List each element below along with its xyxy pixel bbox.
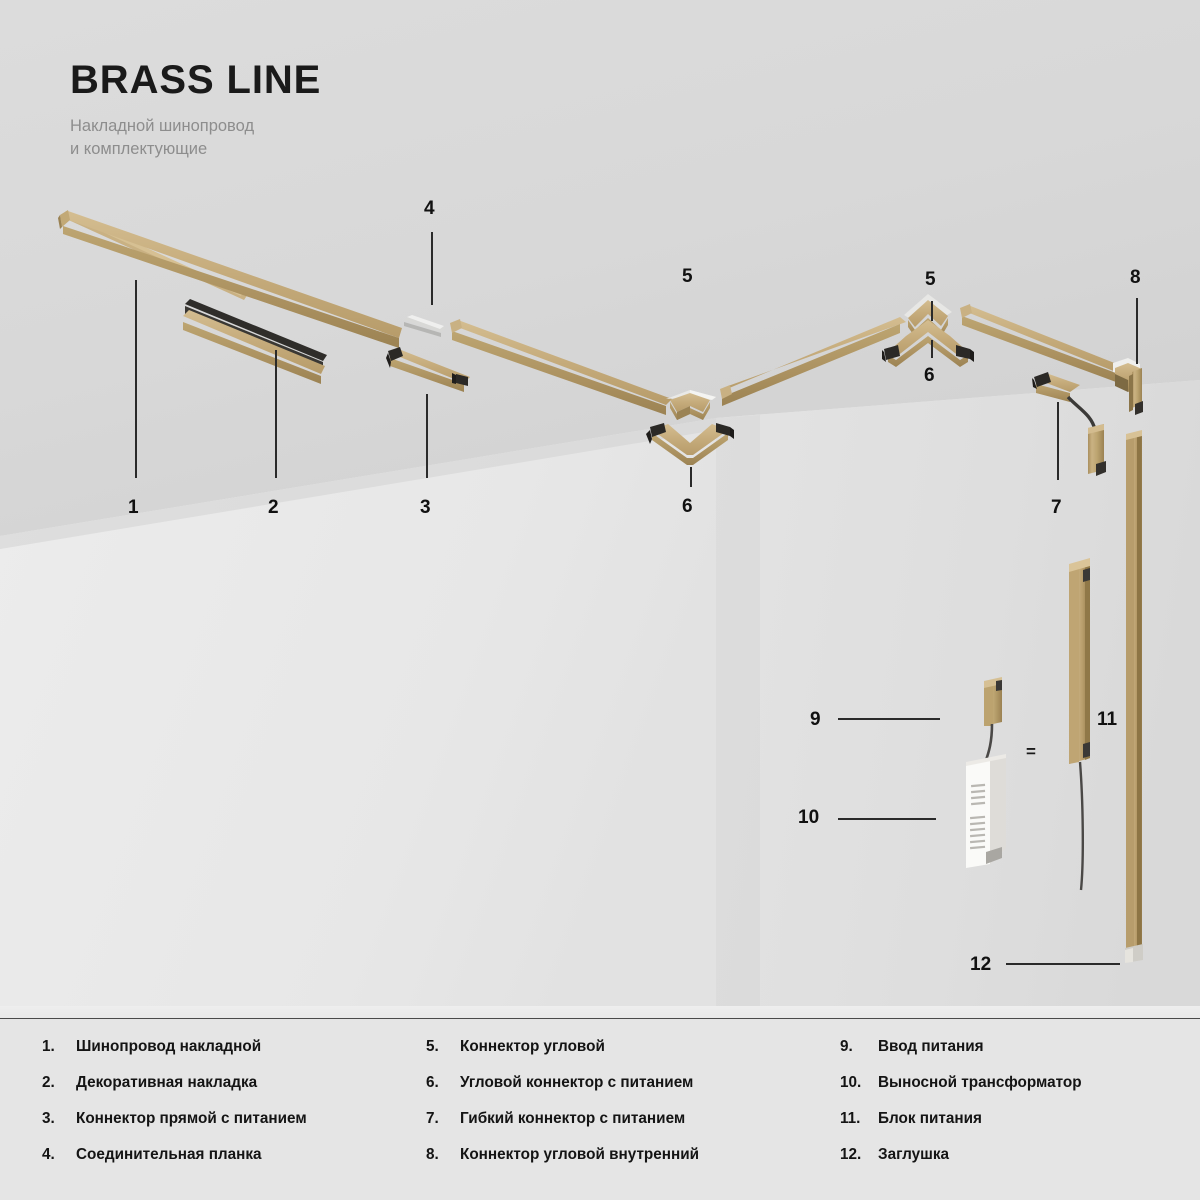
track-segment-wall-vertical [1125,430,1143,963]
leader-line-12 [1006,963,1120,965]
legend-item-7-number: 7. [426,1110,460,1128]
corner-shadow [716,415,760,1018]
subtitle-line-2: и комплектующие [70,138,321,161]
legend-item-2-number: 2. [42,1074,76,1092]
legend-column-1: 1. Шинопровод накладной 2. Декоративная … [0,1038,418,1182]
callout-number-5-right: 5 [925,270,936,289]
callout-number-7: 7 [1051,498,1062,517]
legend-item-12-number: 12. [840,1146,878,1164]
page-title: BRASS LINE [70,60,321,100]
legend-item-10: 10. Выносной трансформатор [840,1074,1200,1110]
callout-number-4: 4 [424,199,435,218]
legend-band-top-fade [0,1006,1200,1018]
callout-number-6-center: 6 [682,497,693,516]
legend-item-5: 5. Коннектор угловой [426,1038,826,1074]
leader-line-8 [1136,298,1138,364]
legend-item-10-number: 10. [840,1074,878,1092]
leader-line-4 [431,232,433,305]
legend-item-5-label: Коннектор угловой [460,1038,605,1056]
callout-number-1: 1 [128,498,139,517]
legend-item-9: 9. Ввод питания [840,1038,1200,1074]
legend-column-3: 9. Ввод питания 10. Выносной трансформат… [826,1038,1200,1182]
callout-number-11: 11 [1097,710,1117,729]
legend-item-6-number: 6. [426,1074,460,1092]
subtitle-line-1: Накладной шинопровод [70,115,321,138]
equals-sign: = [1026,742,1036,762]
legend-item-11-number: 11. [840,1110,878,1128]
legend-item-4-label: Соединительная планка [76,1146,262,1164]
leader-line-5b [931,301,933,321]
leader-line-10 [838,818,936,820]
legend-item-6-label: Угловой коннектор с питанием [460,1074,693,1092]
leader-line-6b [931,340,933,358]
page-subtitle: Накладной шинопровод и комплектующие [70,115,321,161]
legend-item-1: 1. Шинопровод накладной [42,1038,418,1074]
callout-number-10: 10 [798,808,819,827]
legend-panel: 1. Шинопровод накладной 2. Декоративная … [0,1018,1200,1200]
legend-item-9-label: Ввод питания [878,1038,984,1056]
legend-item-2-label: Декоративная накладка [76,1074,257,1092]
callout-number-9: 9 [810,710,821,729]
legend-item-6: 6. Угловой коннектор с питанием [426,1074,826,1110]
legend-item-11: 11. Блок питания [840,1110,1200,1146]
callout-number-5-center: 5 [682,267,693,286]
legend-item-8-number: 8. [426,1146,460,1164]
legend-item-10-label: Выносной трансформатор [878,1074,1082,1092]
poster-root: BRASS LINE Накладной шинопровод и компле… [0,0,1200,1200]
legend-item-12: 12. Заглушка [840,1146,1200,1182]
legend-column-2: 5. Коннектор угловой 6. Угловой коннекто… [418,1038,826,1182]
legend-item-7: 7. Гибкий коннектор с питанием [426,1110,826,1146]
legend-item-8-label: Коннектор угловой внутренний [460,1146,699,1164]
callout-number-3: 3 [420,498,431,517]
legend-item-4-number: 4. [42,1146,76,1164]
leader-line-9 [838,718,940,720]
leader-line-6a [690,467,692,487]
legend-item-3-number: 3. [42,1110,76,1128]
legend-item-5-number: 5. [426,1038,460,1056]
legend-item-1-number: 1. [42,1038,76,1056]
part-10-remote-transformer [966,754,1006,868]
leader-line-1 [135,280,137,478]
legend-columns: 1. Шинопровод накладной 2. Декоративная … [0,1038,1200,1182]
legend-item-11-label: Блок питания [878,1110,982,1128]
callout-number-6-right: 6 [924,366,935,385]
legend-item-3-label: Коннектор прямой с питанием [76,1110,307,1128]
legend-item-2: 2. Декоративная накладка [42,1074,418,1110]
legend-item-8: 8. Коннектор угловой внутренний [426,1146,826,1182]
callout-number-2: 2 [268,498,279,517]
leader-line-2 [275,350,277,478]
legend-item-3: 3. Коннектор прямой с питанием [42,1110,418,1146]
callout-number-12: 12 [970,955,991,974]
leader-line-7 [1057,402,1059,480]
legend-item-4: 4. Соединительная планка [42,1146,418,1182]
legend-item-7-label: Гибкий коннектор с питанием [460,1110,685,1128]
leader-line-3 [426,394,428,478]
legend-item-9-number: 9. [840,1038,878,1056]
poster-header: BRASS LINE Накладной шинопровод и компле… [70,60,321,161]
legend-item-1-label: Шинопровод накладной [76,1038,261,1056]
legend-item-12-label: Заглушка [878,1146,949,1164]
callout-number-8: 8 [1130,268,1141,287]
